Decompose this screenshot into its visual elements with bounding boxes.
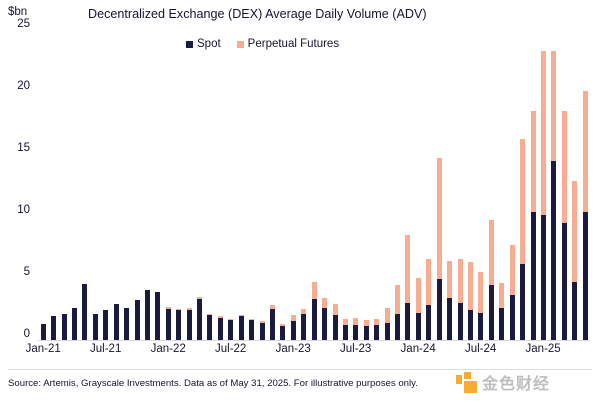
chart-card: $bn Decentralized Exchange (DEX) Average… xyxy=(0,0,600,401)
bar-segment-perpetual-futures xyxy=(541,51,546,215)
bar-segment-perpetual-futures xyxy=(437,158,442,280)
bar-segment-spot xyxy=(249,320,254,340)
bar-segment-perpetual-futures xyxy=(520,139,525,264)
bar-slot[interactable] xyxy=(455,30,465,340)
x-axis-tick-label: Jan-22 xyxy=(151,343,186,355)
bar-stack[interactable] xyxy=(207,314,212,340)
y-axis-unit-label: $bn xyxy=(8,6,27,18)
bar-slot[interactable] xyxy=(559,30,569,340)
bar-segment-spot xyxy=(551,161,556,340)
watermark-logo-icon xyxy=(456,372,477,393)
bar-stack[interactable] xyxy=(416,278,421,340)
bar-stack[interactable] xyxy=(489,220,494,340)
y-axis-tick-label: 5 xyxy=(24,266,30,278)
bar-segment-spot xyxy=(405,303,410,340)
bar-slot[interactable] xyxy=(163,30,173,340)
watermark: 金色财经 xyxy=(456,370,550,394)
bar-stack[interactable] xyxy=(572,181,577,340)
x-axis-tick-label: Jan-25 xyxy=(526,343,561,355)
bar-stack[interactable] xyxy=(343,319,348,340)
bar-segment-spot xyxy=(364,326,369,340)
bar-slot[interactable] xyxy=(278,30,288,340)
bar-stack[interactable] xyxy=(228,319,233,340)
bar-stack[interactable] xyxy=(249,319,254,340)
bar-slot[interactable] xyxy=(382,30,392,340)
bar-segment-perpetual-futures xyxy=(426,259,431,305)
bar-segment-spot xyxy=(103,310,108,340)
bar-slot[interactable] xyxy=(465,30,475,340)
x-axis-tick-label: Jul-21 xyxy=(90,343,121,355)
bar-stack[interactable] xyxy=(405,235,410,340)
bar-segment-spot xyxy=(114,304,119,340)
bar-segment-perpetual-futures xyxy=(416,278,421,313)
bar-segment-spot xyxy=(280,326,285,340)
bar-segment-perpetual-futures xyxy=(447,261,452,298)
bar-stack[interactable] xyxy=(551,51,556,340)
bar-slot[interactable] xyxy=(48,30,58,340)
bar-segment-spot xyxy=(541,215,546,340)
bar-segment-spot xyxy=(260,323,265,340)
bar-slot[interactable] xyxy=(570,30,580,340)
bar-stack[interactable] xyxy=(239,315,244,340)
bar-stack[interactable] xyxy=(291,315,296,340)
bar-slot[interactable] xyxy=(111,30,121,340)
bar-stack[interactable] xyxy=(395,285,400,340)
bar-segment-perpetual-futures xyxy=(405,235,410,303)
bar-series-container xyxy=(38,30,590,340)
bar-segment-spot xyxy=(333,315,338,340)
bar-slot[interactable] xyxy=(444,30,454,340)
bar-stack[interactable] xyxy=(82,284,87,340)
y-axis-tick-label: 15 xyxy=(17,142,30,154)
bar-stack[interactable] xyxy=(583,91,588,340)
bar-slot[interactable] xyxy=(528,30,538,340)
bar-slot[interactable] xyxy=(90,30,100,340)
bar-slot[interactable] xyxy=(486,30,496,340)
bar-stack[interactable] xyxy=(531,111,536,340)
bar-segment-perpetual-futures xyxy=(322,298,327,308)
bar-segment-spot xyxy=(72,308,77,340)
bar-segment-spot xyxy=(228,320,233,340)
bar-slot[interactable] xyxy=(476,30,486,340)
bar-segment-spot xyxy=(499,308,504,340)
bar-slot[interactable] xyxy=(257,30,267,340)
bar-slot[interactable] xyxy=(132,30,142,340)
bar-segment-spot xyxy=(82,284,87,340)
bar-slot[interactable] xyxy=(153,30,163,340)
bar-slot[interactable] xyxy=(507,30,517,340)
bar-stack[interactable] xyxy=(447,261,452,340)
bar-segment-spot xyxy=(207,315,212,340)
x-axis-tick-label: Jan-23 xyxy=(276,343,311,355)
x-axis-tick-label: Jul-22 xyxy=(215,343,246,355)
bar-segment-spot xyxy=(155,292,160,340)
x-axis-baseline xyxy=(38,340,590,341)
bar-segment-spot xyxy=(239,316,244,340)
bar-slot[interactable] xyxy=(413,30,423,340)
source-note: Source: Artemis, Grayscale Investments. … xyxy=(8,378,418,389)
x-axis-tick-label: Jul-24 xyxy=(465,343,496,355)
bar-stack[interactable] xyxy=(270,305,275,340)
bar-segment-spot xyxy=(583,212,588,340)
bar-stack[interactable] xyxy=(62,314,67,340)
bar-stack[interactable] xyxy=(364,320,369,340)
bar-stack[interactable] xyxy=(135,300,140,340)
bar-slot[interactable] xyxy=(424,30,434,340)
bar-stack[interactable] xyxy=(437,158,442,340)
watermark-label: 金色财经 xyxy=(482,370,550,394)
x-axis-tick-label: Jan-24 xyxy=(401,343,436,355)
bar-segment-spot xyxy=(437,279,442,340)
bar-stack[interactable] xyxy=(103,310,108,340)
bar-slot[interactable] xyxy=(372,30,382,340)
bar-segment-spot xyxy=(416,313,421,340)
bar-stack[interactable] xyxy=(114,304,119,340)
bar-segment-spot xyxy=(395,314,400,340)
bar-slot[interactable] xyxy=(340,30,350,340)
bar-stack[interactable] xyxy=(51,316,56,340)
bar-stack[interactable] xyxy=(218,316,223,340)
bar-segment-spot xyxy=(291,321,296,340)
bar-slot[interactable] xyxy=(267,30,277,340)
bar-segment-spot xyxy=(135,300,140,340)
bar-segment-spot xyxy=(93,314,98,340)
bar-slot[interactable] xyxy=(173,30,183,340)
bar-slot[interactable] xyxy=(517,30,527,340)
bar-segment-spot xyxy=(301,314,306,340)
bar-stack[interactable] xyxy=(385,308,390,340)
bar-stack[interactable] xyxy=(374,319,379,340)
bar-stack[interactable] xyxy=(562,111,567,340)
bar-segment-spot xyxy=(322,308,327,340)
bar-segment-perpetual-futures xyxy=(395,285,400,314)
bar-segment-perpetual-futures xyxy=(478,272,483,313)
bar-segment-spot xyxy=(51,316,56,340)
bar-segment-spot xyxy=(458,303,463,340)
bar-slot[interactable] xyxy=(101,30,111,340)
bar-slot[interactable] xyxy=(205,30,215,340)
bar-slot[interactable] xyxy=(299,30,309,340)
bar-slot[interactable] xyxy=(236,30,246,340)
bar-stack[interactable] xyxy=(197,297,202,340)
bar-stack[interactable] xyxy=(155,292,160,340)
bar-segment-perpetual-futures xyxy=(489,220,494,286)
bar-segment-perpetual-futures xyxy=(499,283,504,308)
bar-stack[interactable] xyxy=(322,298,327,340)
plot-area xyxy=(38,30,590,340)
bar-slot[interactable] xyxy=(319,30,329,340)
bar-stack[interactable] xyxy=(541,51,546,340)
bar-segment-perpetual-futures xyxy=(353,318,358,325)
bar-segment-perpetual-futures xyxy=(531,111,536,213)
bar-stack[interactable] xyxy=(260,321,265,340)
bar-slot[interactable] xyxy=(580,30,590,340)
bar-segment-spot xyxy=(562,223,567,340)
bar-slot[interactable] xyxy=(538,30,548,340)
bar-slot[interactable] xyxy=(497,30,507,340)
bar-stack[interactable] xyxy=(458,259,463,340)
bar-segment-spot xyxy=(41,324,46,340)
bar-slot[interactable] xyxy=(549,30,559,340)
bar-stack[interactable] xyxy=(166,307,171,340)
bar-segment-perpetual-futures xyxy=(385,308,390,323)
bar-segment-spot xyxy=(489,285,494,340)
bar-slot[interactable] xyxy=(403,30,413,340)
bar-stack[interactable] xyxy=(510,245,515,340)
bar-stack[interactable] xyxy=(124,308,129,340)
bar-slot[interactable] xyxy=(330,30,340,340)
bar-slot[interactable] xyxy=(38,30,48,340)
bar-stack[interactable] xyxy=(312,282,317,340)
bar-segment-perpetual-futures xyxy=(583,91,588,213)
bar-stack[interactable] xyxy=(187,308,192,340)
bar-slot[interactable] xyxy=(69,30,79,340)
bar-slot[interactable] xyxy=(121,30,131,340)
bar-stack[interactable] xyxy=(41,324,46,340)
bar-stack[interactable] xyxy=(478,272,483,340)
bar-slot[interactable] xyxy=(142,30,152,340)
y-axis: 0510152025 xyxy=(0,24,36,340)
bar-stack[interactable] xyxy=(176,309,181,340)
bar-slot[interactable] xyxy=(215,30,225,340)
bar-slot[interactable] xyxy=(434,30,444,340)
bar-segment-spot xyxy=(572,282,577,340)
bar-segment-perpetual-futures xyxy=(468,262,473,310)
bar-stack[interactable] xyxy=(333,304,338,340)
bar-segment-spot xyxy=(520,264,525,340)
bar-segment-spot xyxy=(166,309,171,340)
bar-stack[interactable] xyxy=(280,324,285,340)
bar-segment-spot xyxy=(447,298,452,340)
bar-stack[interactable] xyxy=(353,318,358,340)
bar-segment-spot xyxy=(468,310,473,340)
bar-stack[interactable] xyxy=(520,139,525,340)
bar-segment-perpetual-futures xyxy=(312,282,317,299)
bar-segment-spot xyxy=(343,325,348,340)
x-axis-tick-label: Jul-23 xyxy=(340,343,371,355)
bar-stack[interactable] xyxy=(301,309,306,340)
bar-slot[interactable] xyxy=(288,30,298,340)
bar-slot[interactable] xyxy=(184,30,194,340)
y-axis-tick-label: 25 xyxy=(17,18,30,30)
bar-stack[interactable] xyxy=(72,308,77,340)
bar-segment-perpetual-futures xyxy=(551,51,556,161)
x-axis: Jan-21Jul-21Jan-22Jul-22Jan-23Jul-23Jan-… xyxy=(38,343,590,361)
bar-segment-spot xyxy=(176,310,181,340)
bar-stack[interactable] xyxy=(468,262,473,340)
bar-segment-perpetual-futures xyxy=(562,111,567,224)
bar-stack[interactable] xyxy=(499,283,504,340)
bar-stack[interactable] xyxy=(145,290,150,340)
bar-slot[interactable] xyxy=(80,30,90,340)
bar-slot[interactable] xyxy=(361,30,371,340)
bar-segment-spot xyxy=(218,318,223,340)
y-axis-tick-label: 10 xyxy=(17,204,30,216)
bar-segment-spot xyxy=(426,305,431,340)
bar-segment-spot xyxy=(510,295,515,340)
x-axis-tick-label: Jan-21 xyxy=(26,343,61,355)
bar-segment-spot xyxy=(374,325,379,340)
bar-segment-spot xyxy=(312,299,317,340)
bar-slot[interactable] xyxy=(59,30,69,340)
bar-segment-spot xyxy=(62,314,67,340)
bar-segment-perpetual-futures xyxy=(572,181,577,281)
page-title: Decentralized Exchange (DEX) Average Dai… xyxy=(88,7,558,21)
bar-segment-perpetual-futures xyxy=(510,245,515,296)
bar-segment-spot xyxy=(385,323,390,340)
bar-segment-spot xyxy=(270,309,275,340)
bar-segment-spot xyxy=(478,313,483,340)
bar-stack[interactable] xyxy=(426,259,431,340)
bar-slot[interactable] xyxy=(392,30,402,340)
bar-stack[interactable] xyxy=(93,314,98,340)
bar-segment-spot xyxy=(531,212,536,340)
bar-slot[interactable] xyxy=(309,30,319,340)
bar-segment-perpetual-futures xyxy=(333,304,338,315)
y-axis-tick-label: 0 xyxy=(24,328,30,340)
y-axis-tick-label: 20 xyxy=(17,80,30,92)
bar-segment-spot xyxy=(124,308,129,340)
bar-slot[interactable] xyxy=(194,30,204,340)
bar-slot[interactable] xyxy=(351,30,361,340)
bar-slot[interactable] xyxy=(246,30,256,340)
bar-segment-spot xyxy=(353,325,358,340)
bar-segment-perpetual-futures xyxy=(458,259,463,302)
bar-segment-spot xyxy=(145,290,150,340)
bar-segment-spot xyxy=(197,299,202,340)
bar-slot[interactable] xyxy=(226,30,236,340)
bar-segment-spot xyxy=(187,310,192,340)
